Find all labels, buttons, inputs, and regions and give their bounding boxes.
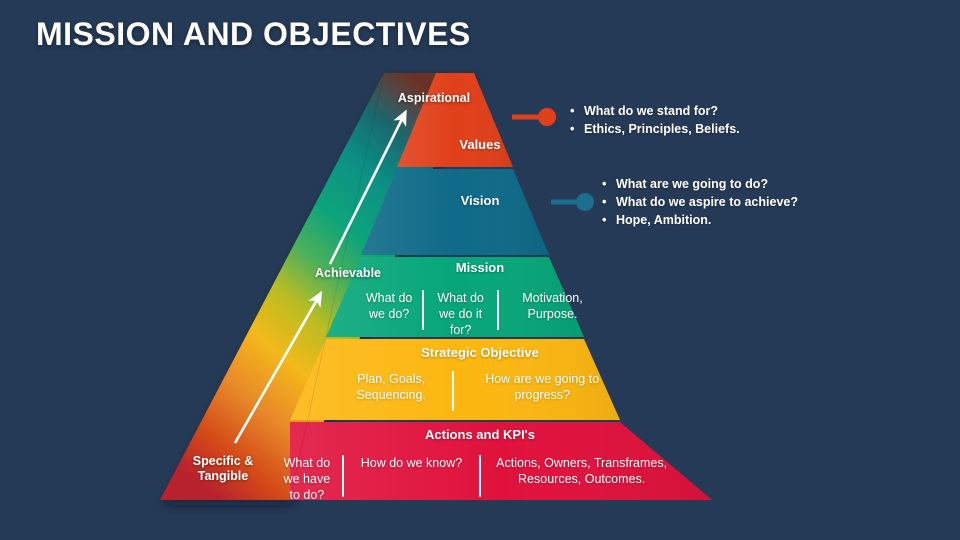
mission-column-3: Motivation, Purpose. (499, 290, 606, 322)
strategic-column-1: Plan, Goals, Sequencing. (330, 371, 452, 403)
callout-values-item: Ethics, Principles, Beliefs. (568, 121, 740, 139)
actions-kpi-columns: What do we have to do? How do we know? A… (272, 455, 682, 497)
strategic-column-2: How are we going to progress? (454, 371, 630, 403)
mission-column-1: What do we do? (356, 290, 422, 322)
actions-column-2: How do we know? (344, 455, 479, 471)
callout-connector-vision (551, 193, 594, 211)
callout-connector-values (512, 108, 556, 126)
actions-column-3: Actions, Owners, Transframes, Resources,… (481, 455, 682, 487)
mission-column-2: What do we do it for? (424, 290, 497, 338)
slide-canvas: MISSION AND OBJECTIVES (0, 0, 960, 540)
actions-column-1: What do we have to do? (272, 455, 342, 503)
callout-vision-item: Hope, Ambition. (600, 212, 798, 230)
callout-values: What do we stand for? Ethics, Principles… (568, 103, 740, 139)
callout-vision-item: What are we going to do? (600, 176, 798, 194)
mission-columns: What do we do? What do we do it for? Mot… (356, 290, 606, 330)
callout-vision-item: What do we aspire to achieve? (600, 194, 798, 212)
callout-values-item: What do we stand for? (568, 103, 740, 121)
callout-vision: What are we going to do? What do we aspi… (600, 176, 798, 229)
strategic-objective-columns: Plan, Goals, Sequencing. How are we goin… (330, 371, 630, 411)
